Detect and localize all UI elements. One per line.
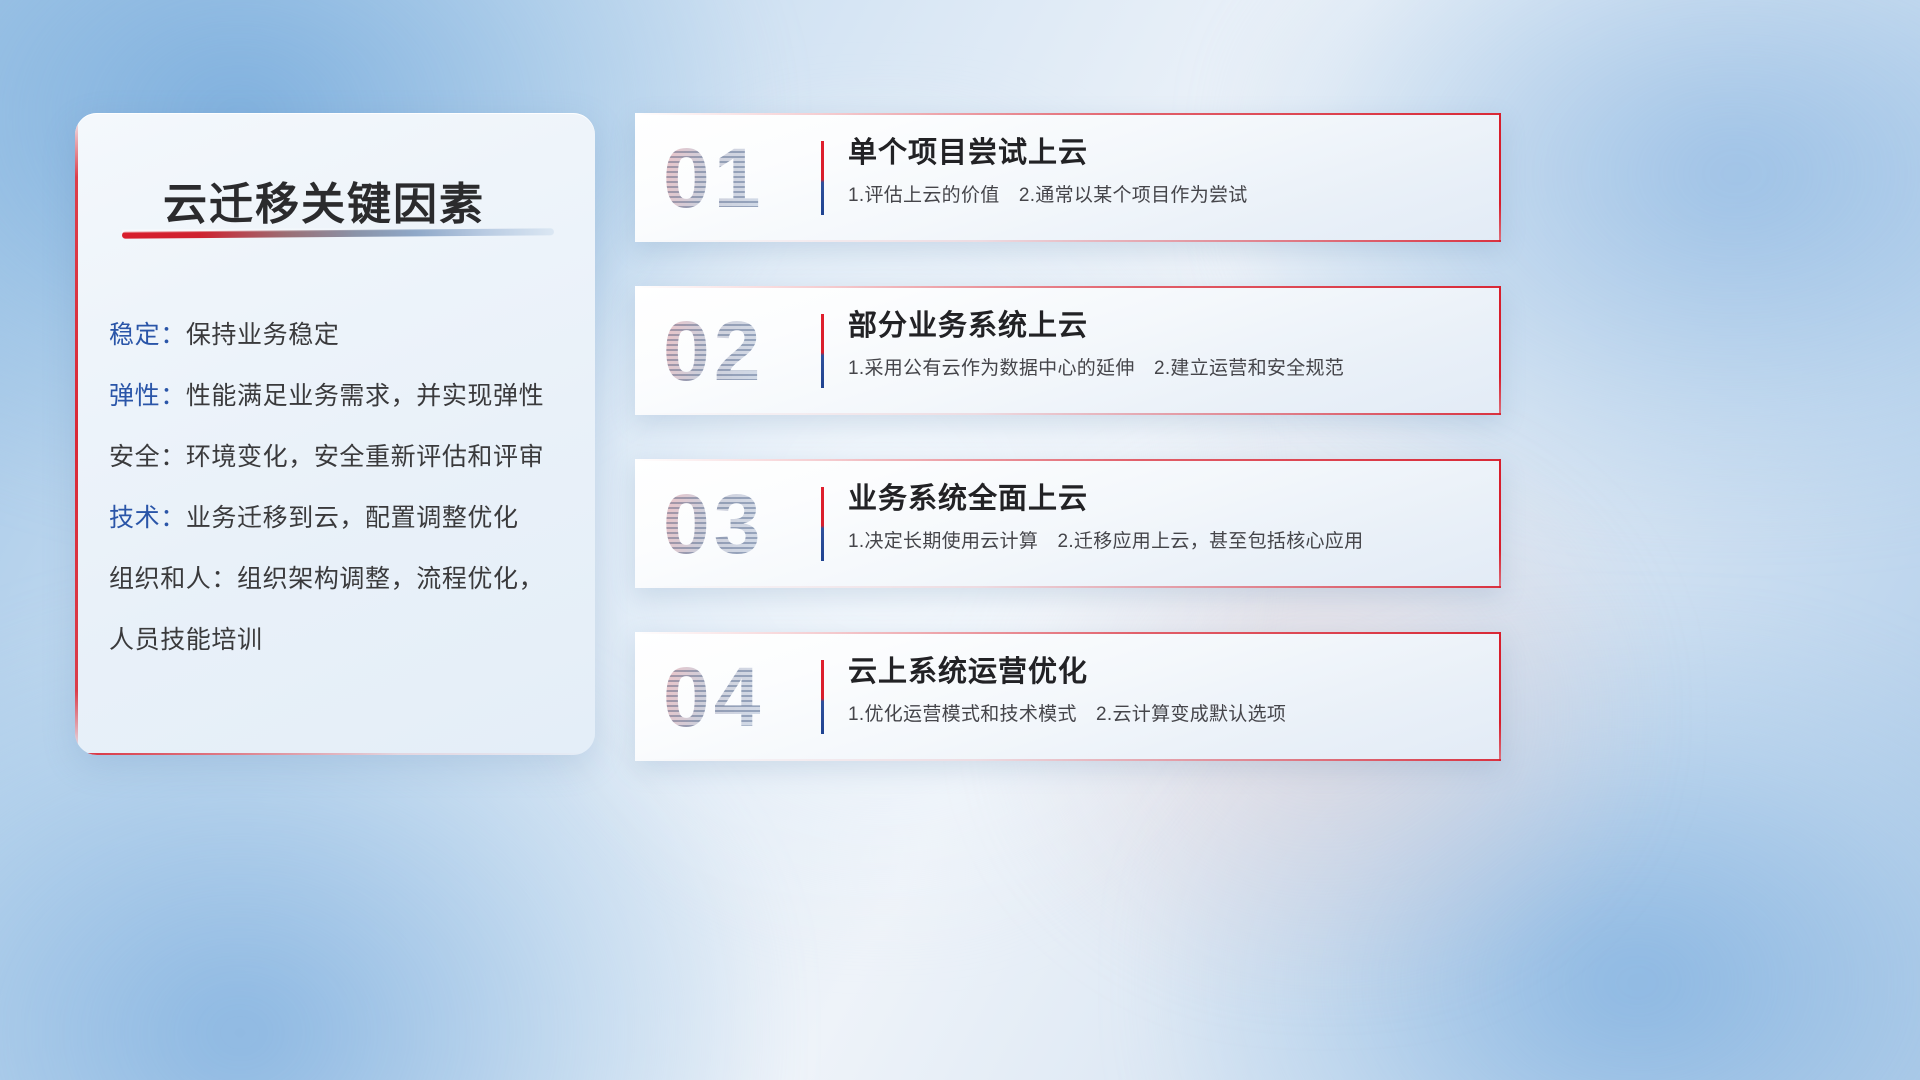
card-heading: 云上系统运营优化 [848,654,1477,690]
card-divider-bar [821,660,824,734]
factor-row: 组织和人：组织架构调整，流程优化， [109,549,579,610]
factor-row: 稳定：保持业务稳定 [109,305,579,366]
title-underline-gradient [122,228,554,238]
factor-row: 技术：业务迁移到云，配置调整优化 [109,488,579,549]
card-bottom-accent [635,759,1501,761]
card-bottom-accent [635,413,1501,415]
factor-text: 人员技能培训 [109,626,263,654]
card-top-accent [635,459,1501,461]
stage-card[interactable]: 02部分业务系统上云1.采用公有云作为数据中心的延伸 2.建立运营和安全规范 [635,286,1501,415]
factor-label: 安全： [109,443,186,471]
factor-text: 业务迁移到云，配置调整优化 [186,504,519,532]
card-right-accent [1499,286,1501,415]
stage-card[interactable]: 04云上系统运营优化1.优化运营模式和技术模式 2.云计算变成默认选项 [635,632,1501,761]
key-factors-panel: 云迁移关键因素 稳定：保持业务稳定弹性：性能满足业务需求，并实现弹性安全：环境变… [75,113,595,755]
card-heading: 单个项目尝试上云 [848,135,1477,171]
card-step-number: 01 [663,136,764,220]
card-top-accent [635,632,1501,634]
factor-label: 弹性： [109,382,186,410]
card-body: 业务系统全面上云1.决定长期使用云计算 2.迁移应用上云，甚至包括核心应用 [848,481,1477,553]
card-body: 云上系统运营优化1.优化运营模式和技术模式 2.云计算变成默认选项 [848,654,1477,726]
card-body: 部分业务系统上云1.采用公有云作为数据中心的延伸 2.建立运营和安全规范 [848,308,1477,380]
card-step-number: 02 [663,309,764,393]
card-divider-bar [821,141,824,215]
card-heading: 部分业务系统上云 [848,308,1477,344]
card-bottom-accent [635,240,1501,242]
factor-list: 稳定：保持业务稳定弹性：性能满足业务需求，并实现弹性安全：环境变化，安全重新评估… [109,305,579,671]
card-heading: 业务系统全面上云 [848,481,1477,517]
factor-label: 组织和人： [109,565,237,593]
panel-left-accent-bar [75,113,78,755]
card-subtitle: 1.评估上云的价值 2.通常以某个项目作为尝试 [848,180,1477,207]
card-body: 单个项目尝试上云1.评估上云的价值 2.通常以某个项目作为尝试 [848,135,1477,207]
card-top-accent [635,113,1501,115]
card-divider-bar [821,314,824,388]
stage-card[interactable]: 03业务系统全面上云1.决定长期使用云计算 2.迁移应用上云，甚至包括核心应用 [635,459,1501,588]
card-right-accent [1499,632,1501,761]
factor-text: 组织架构调整，流程优化， [237,565,544,593]
stage-card[interactable]: 01单个项目尝试上云1.评估上云的价值 2.通常以某个项目作为尝试 [635,113,1501,242]
card-subtitle: 1.采用公有云作为数据中心的延伸 2.建立运营和安全规范 [848,353,1477,380]
factor-text: 保持业务稳定 [186,321,340,349]
panel-bottom-accent-bar [75,753,595,755]
factor-text: 性能满足业务需求，并实现弹性 [186,382,544,410]
factor-row: 安全：环境变化，安全重新评估和评审 [109,427,579,488]
card-subtitle: 1.优化运营模式和技术模式 2.云计算变成默认选项 [848,699,1477,726]
factor-row: 弹性：性能满足业务需求，并实现弹性 [109,366,579,427]
card-right-accent [1499,459,1501,588]
factor-label: 技术： [109,504,186,532]
card-subtitle: 1.决定长期使用云计算 2.迁移应用上云，甚至包括核心应用 [848,526,1477,553]
card-divider-bar [821,487,824,561]
card-right-accent [1499,113,1501,242]
cloud-journey-card-list: 01单个项目尝试上云1.评估上云的价值 2.通常以某个项目作为尝试02部分业务系… [635,113,1501,761]
card-step-number: 03 [663,482,764,566]
page-title: 云迁移关键因素 [163,168,485,232]
factor-row: 人员技能培训 [109,610,579,671]
card-step-number: 04 [663,655,764,739]
card-top-accent [635,286,1501,288]
factor-label: 稳定： [109,321,186,349]
card-bottom-accent [635,586,1501,588]
factor-text: 环境变化，安全重新评估和评审 [186,443,544,471]
